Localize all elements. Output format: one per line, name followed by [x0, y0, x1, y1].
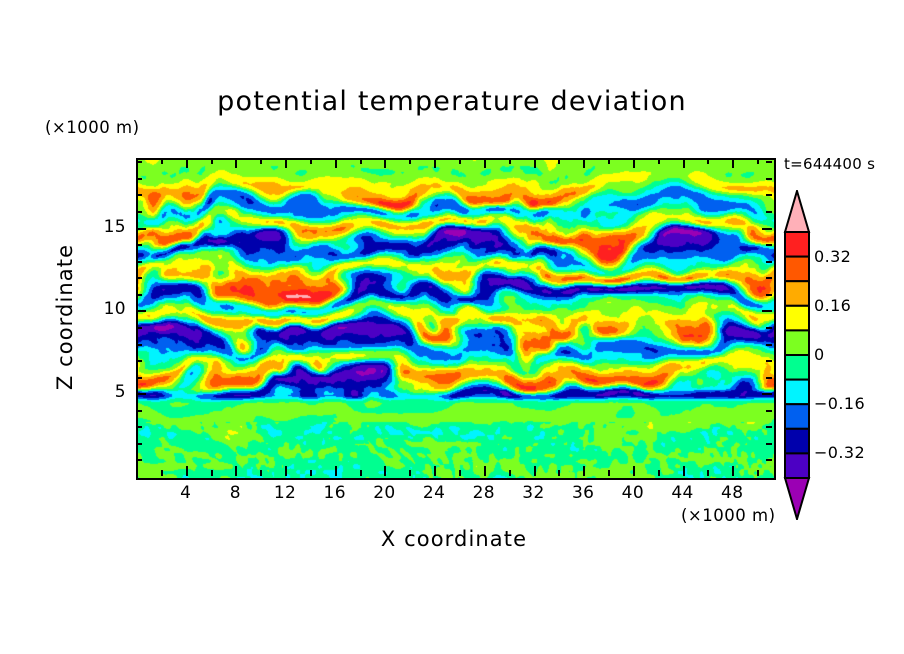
x-tick-26: [459, 470, 461, 476]
x-tick-label-40: 40: [611, 483, 655, 503]
colorbar-svg: [782, 190, 812, 520]
y-axis-title: Z coordinate: [53, 207, 77, 427]
x-tick-34: [558, 470, 560, 476]
x-tick-top-4: [186, 158, 188, 168]
y-tick-8: [136, 344, 142, 346]
x-tick-38: [608, 470, 610, 476]
y-tick-right-2: [766, 443, 772, 445]
y-tick-13: [136, 261, 142, 263]
x-tick-42: [658, 470, 660, 476]
x-tick-top-2: [161, 158, 163, 164]
colorbar-band-0: [785, 232, 809, 257]
x-tick-30: [509, 470, 511, 476]
x-tick-top-40: [633, 158, 635, 168]
x-tick-40: [633, 466, 635, 476]
x-tick-top-32: [534, 158, 536, 168]
x-tick-top-16: [335, 158, 337, 168]
y-tick-right-6: [766, 377, 772, 379]
colorbar-band-4: [785, 330, 809, 355]
page-title: potential temperature deviation: [0, 86, 904, 117]
x-tick-top-38: [608, 158, 610, 164]
y-tick-right-10: [762, 310, 772, 312]
x-tick-top-44: [683, 158, 685, 168]
y-tick-right-3: [766, 426, 772, 428]
contour-plot-area: [136, 158, 776, 480]
x-axis-units-label: (×1000 m): [681, 506, 776, 525]
colorbar-band-9: [785, 453, 809, 478]
y-tick-right-16: [766, 211, 772, 213]
x-tick-top-24: [434, 158, 436, 168]
x-tick-16: [335, 466, 337, 476]
x-tick-top-46: [707, 158, 709, 164]
x-tick-20: [384, 466, 386, 476]
colorbar-label-0: 0.32: [814, 247, 851, 266]
x-tick-top-28: [484, 158, 486, 168]
colorbar-band-1: [785, 257, 809, 282]
x-tick-top-18: [360, 158, 362, 164]
y-tick-7: [136, 360, 142, 362]
y-tick-18: [136, 178, 142, 180]
x-tick-top-50: [757, 158, 759, 164]
colorbar-band-6: [785, 380, 809, 405]
x-tick-label-32: 32: [512, 483, 556, 503]
colorbar-band-2: [785, 281, 809, 306]
x-tick-4: [186, 466, 188, 476]
x-tick-8: [235, 466, 237, 476]
x-tick-6: [211, 470, 213, 476]
x-tick-top-6: [211, 158, 213, 164]
colorbar-under-cap: [785, 478, 809, 519]
y-tick-9: [136, 327, 142, 329]
y-tick-label-10: 10: [86, 299, 126, 319]
y-tick-16: [136, 211, 142, 213]
x-tick-label-24: 24: [412, 483, 456, 503]
y-tick-15: [136, 228, 146, 230]
y-tick-label-5: 5: [86, 382, 126, 402]
x-tick-label-20: 20: [362, 483, 406, 503]
colorbar-band-3: [785, 306, 809, 331]
x-tick-46: [707, 470, 709, 476]
y-tick-3: [136, 426, 142, 428]
x-tick-label-8: 8: [213, 483, 257, 503]
x-tick-label-4: 4: [164, 483, 208, 503]
x-tick-top-22: [409, 158, 411, 164]
colorbar-band-8: [785, 429, 809, 454]
colorbar-label-1: 0.16: [814, 296, 851, 315]
colorbar-label-2: 0: [814, 345, 825, 364]
x-tick-32: [534, 466, 536, 476]
y-tick-2: [136, 443, 142, 445]
x-tick-44: [683, 466, 685, 476]
y-tick-19: [136, 161, 142, 163]
y-tick-right-8: [766, 344, 772, 346]
y-tick-6: [136, 377, 142, 379]
colorbar-band-5: [785, 355, 809, 380]
y-tick-right-5: [762, 393, 772, 395]
y-tick-14: [136, 244, 142, 246]
x-tick-label-48: 48: [710, 483, 754, 503]
colorbar-label-3: −0.16: [814, 394, 865, 413]
y-tick-right-18: [766, 178, 772, 180]
y-tick-4: [136, 410, 142, 412]
x-tick-top-8: [235, 158, 237, 168]
x-tick-label-36: 36: [561, 483, 605, 503]
x-tick-top-42: [658, 158, 660, 164]
time-stamp-annotation: t=644400 s: [784, 155, 875, 173]
x-tick-12: [285, 466, 287, 476]
y-tick-12: [136, 277, 142, 279]
x-tick-10: [260, 470, 262, 476]
y-tick-right-7: [766, 360, 772, 362]
y-tick-right-9: [766, 327, 772, 329]
x-tick-2: [161, 470, 163, 476]
x-tick-top-12: [285, 158, 287, 168]
y-tick-11: [136, 294, 142, 296]
y-axis-units-label: (×1000 m): [45, 118, 140, 137]
x-tick-top-30: [509, 158, 511, 164]
x-tick-label-16: 16: [313, 483, 357, 503]
y-tick-right-11: [766, 294, 772, 296]
x-tick-18: [360, 470, 362, 476]
x-tick-label-28: 28: [462, 483, 506, 503]
x-tick-top-48: [732, 158, 734, 168]
colorbar-over-cap: [785, 191, 809, 232]
y-tick-right-1: [766, 459, 772, 461]
colorbar-label-4: −0.32: [814, 443, 865, 462]
y-tick-10: [136, 310, 146, 312]
x-tick-14: [310, 470, 312, 476]
colorbar: [782, 190, 812, 520]
x-tick-label-12: 12: [263, 483, 307, 503]
y-tick-17: [136, 194, 142, 196]
y-tick-right-13: [766, 261, 772, 263]
y-tick-right-14: [766, 244, 772, 246]
y-tick-right-4: [766, 410, 772, 412]
colorbar-band-7: [785, 404, 809, 429]
x-axis-title: X coordinate: [238, 527, 670, 551]
x-tick-48: [732, 466, 734, 476]
x-tick-50: [757, 470, 759, 476]
x-tick-top-26: [459, 158, 461, 164]
contour-field-canvas: [138, 160, 774, 478]
x-tick-24: [434, 466, 436, 476]
x-tick-top-10: [260, 158, 262, 164]
x-tick-top-36: [583, 158, 585, 168]
x-tick-top-14: [310, 158, 312, 164]
x-tick-top-20: [384, 158, 386, 168]
y-tick-1: [136, 459, 142, 461]
y-tick-5: [136, 393, 146, 395]
x-tick-22: [409, 470, 411, 476]
x-tick-36: [583, 466, 585, 476]
y-tick-right-15: [762, 228, 772, 230]
x-tick-label-44: 44: [661, 483, 705, 503]
x-tick-top-34: [558, 158, 560, 164]
y-tick-right-19: [766, 161, 772, 163]
y-tick-right-12: [766, 277, 772, 279]
x-tick-28: [484, 466, 486, 476]
y-tick-label-15: 15: [86, 217, 126, 237]
y-tick-right-17: [766, 194, 772, 196]
